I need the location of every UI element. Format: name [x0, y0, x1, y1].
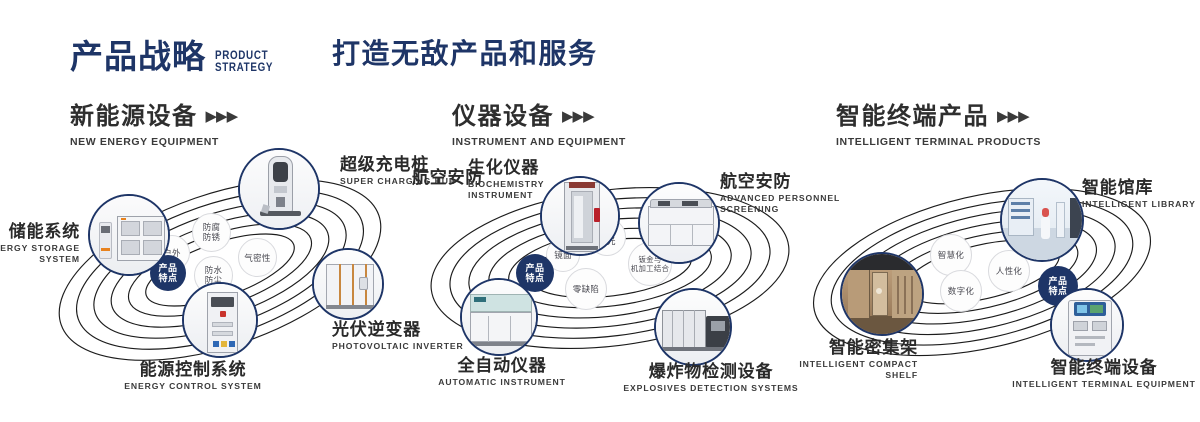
section-title-cn: 新能源设备 [70, 103, 198, 130]
section-title-intelligent-terminal: 智能终端产品▶▶▶ INTELLIGENT TERMINAL PRODUCTS [836, 96, 1041, 148]
orbit-group-intelligent-terminal: 智慧化 数字化 人性化 产品特点 智能馆库 [810, 160, 1180, 375]
chevron-right-icon: ▶▶▶ [997, 107, 1029, 125]
node-bubble-super-charging-hub[interactable] [238, 148, 320, 230]
section-title-cn: 仪器设备 [452, 103, 554, 130]
chevron-right-icon: ▶▶▶ [562, 107, 594, 125]
node-label-biochemistry-instrument: 生化仪器 BIOCHEMISTRYINSTRUMENT [468, 158, 544, 201]
chevron-right-icon: ▶▶▶ [206, 107, 238, 125]
section-title-en: INSTRUMENT AND EQUIPMENT [452, 136, 626, 148]
section-title-cn: 智能终端产品 [836, 103, 989, 130]
feature-bubble: 零缺陷 [565, 268, 607, 310]
node-bubble-photovoltaic-inverter[interactable] [312, 248, 384, 320]
node-bubble-energy-control-system[interactable] [182, 282, 258, 358]
node-label-automatic-instrument: 全自动仪器 AUTOMATIC INSTRUMENT [412, 356, 592, 388]
section-title-new-energy: 新能源设备▶▶▶ NEW ENERGY EQUIPMENT [70, 96, 237, 148]
node-bubble-explosives-detection[interactable] [654, 288, 732, 366]
page-title-en: PRODUCT STRATEGY [215, 50, 273, 73]
node-label-terminal-equipment: 智能终端设备 INTELLIGENT TERMINAL EQUIPMENT [1006, 358, 1200, 390]
node-bubble-terminal-equipment[interactable] [1050, 288, 1124, 362]
feature-bubble: 数字化 [940, 270, 982, 312]
page-subtitle: 打造无敌产品和服务 [332, 32, 598, 72]
page-title-cn: 产品战略 [70, 40, 206, 74]
orbit-group-new-energy: 户外 防腐防锈 气密性 防水防尘 产品特点 [40, 160, 400, 370]
node-label-energy-storage: 储能系统 ENERGY STORAGESYSTEM [0, 222, 80, 265]
node-label-compact-shelf: 智能密集架 INTELLIGENT COMPACTSHELF [768, 338, 918, 381]
infographic-canvas: 产品战略 PRODUCT STRATEGY 打造无敌产品和服务 新能源设备▶▶▶… [0, 0, 1200, 422]
page-title-en-line2: STRATEGY [215, 60, 273, 74]
node-bubble-biochemistry-instrument[interactable] [540, 176, 620, 256]
node-bubble-automatic-instrument[interactable] [460, 278, 538, 356]
node-label-energy-control-system: 能源控制系统 ENERGY CONTROL SYSTEM [78, 360, 308, 392]
section-title-en: NEW ENERGY EQUIPMENT [70, 136, 237, 148]
orbit-group-instrument: 镜面 电解抛光 钣金与机加工结合 零缺陷 产品特点 航空安防 [420, 160, 800, 370]
node-bubble-intelligent-library[interactable] [1000, 178, 1084, 262]
page-title: 产品战略 PRODUCT STRATEGY [70, 28, 286, 74]
node-label-intelligent-library: 智能馆库 INTELLIGENT LIBRARY [1082, 178, 1196, 210]
section-title-en: INTELLIGENT TERMINAL PRODUCTS [836, 136, 1041, 148]
feature-bubble: 防腐防锈 [192, 213, 231, 252]
node-bubble-personnel-screening[interactable] [638, 182, 720, 264]
node-bubble-energy-storage[interactable] [88, 194, 170, 276]
node-bubble-compact-shelf[interactable] [840, 252, 924, 336]
feature-bubble: 气密性 [238, 238, 277, 277]
section-title-instrument: 仪器设备▶▶▶ INSTRUMENT AND EQUIPMENT [452, 96, 626, 148]
